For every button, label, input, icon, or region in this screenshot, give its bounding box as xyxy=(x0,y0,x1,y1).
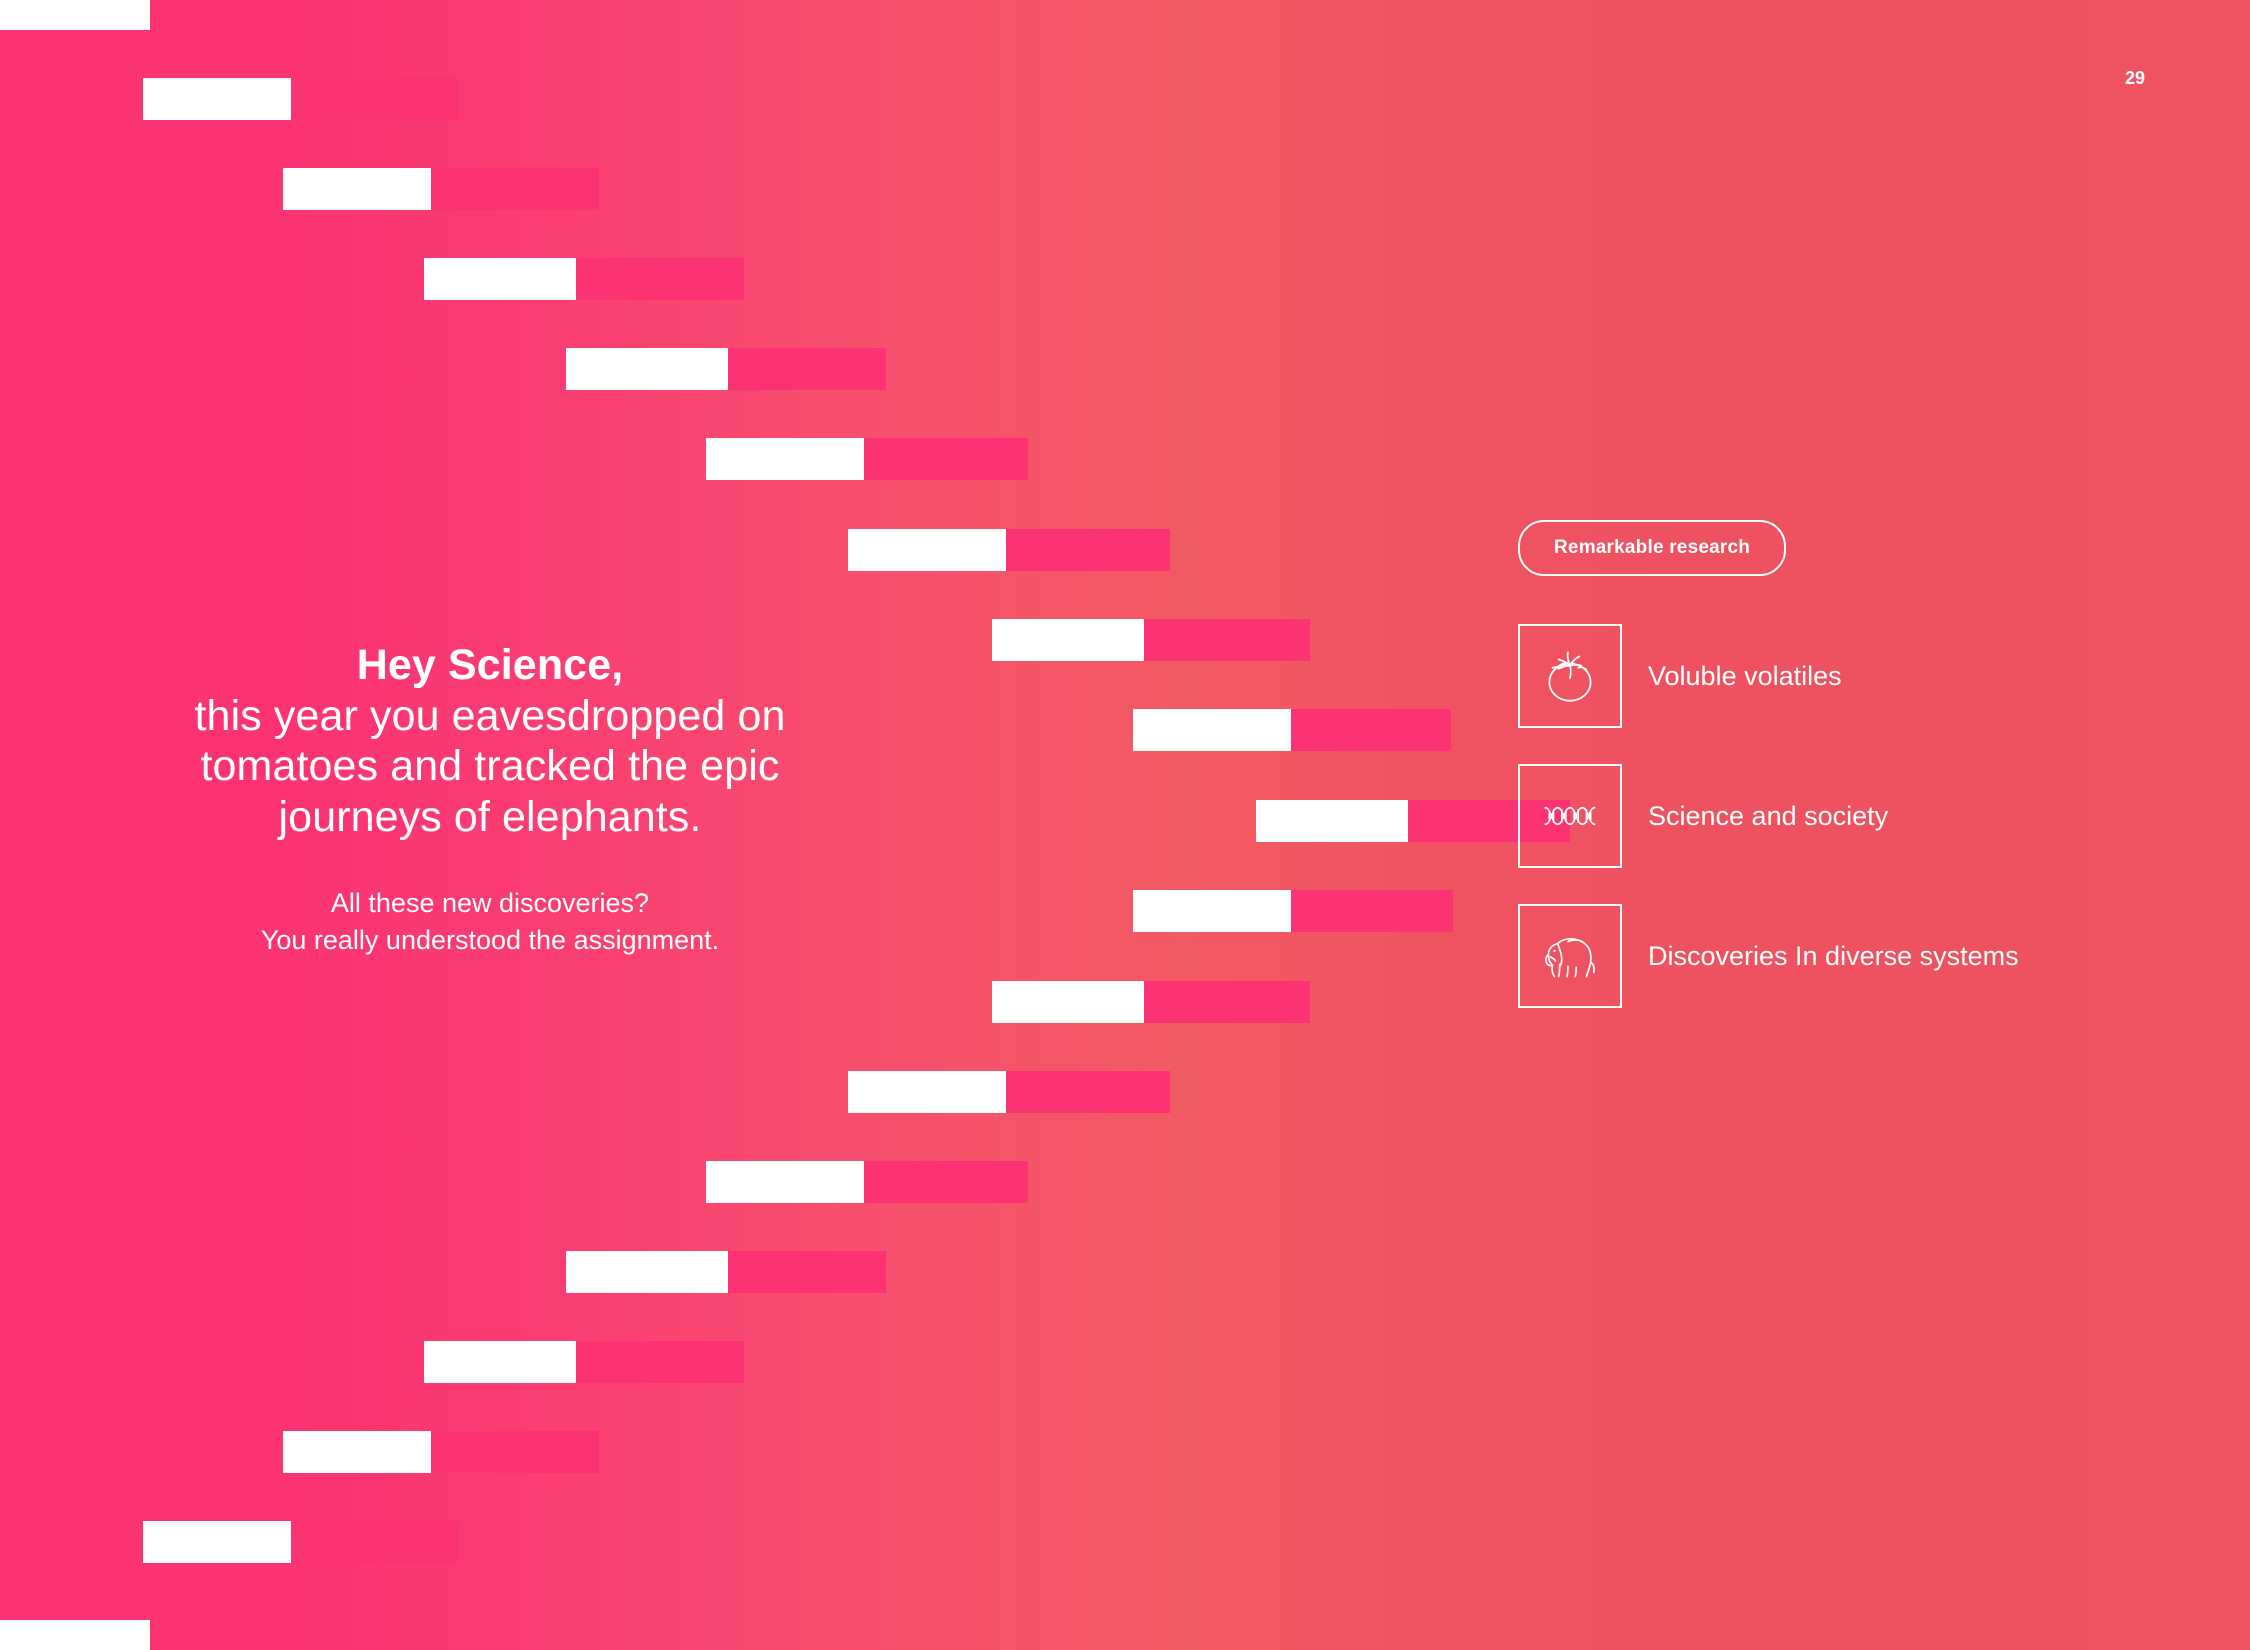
staircase-bar-row xyxy=(566,348,886,390)
subcopy: All these new discoveries? You really un… xyxy=(150,885,830,960)
staircase-bar-accent xyxy=(576,1341,744,1383)
staircase-bar-white xyxy=(992,981,1144,1023)
staircase-bar-white xyxy=(143,78,291,120)
staircase-bar-white xyxy=(848,529,1006,571)
staircase-bar-row xyxy=(143,78,459,120)
staircase-bar-white xyxy=(1133,709,1291,751)
staircase-bar-white xyxy=(706,438,864,480)
staircase-bar-white xyxy=(424,258,576,300)
staircase-bar-row xyxy=(992,981,1310,1023)
corner-notch-top-left xyxy=(0,0,150,30)
headline-lead: Hey Science, xyxy=(357,641,624,689)
staircase-bar-row xyxy=(848,529,1170,571)
topic-item-voluble-volatiles[interactable]: Voluble volatiles xyxy=(1518,624,2019,728)
staircase-bar-white xyxy=(706,1161,864,1203)
page-number: 29 xyxy=(2125,68,2145,89)
staircase-bar-accent xyxy=(1006,1071,1170,1113)
staircase-bar-accent xyxy=(1144,619,1310,661)
staircase-bar-accent xyxy=(1006,529,1170,571)
slide-canvas: 29 Hey Science, this year you eavesdropp… xyxy=(0,0,2250,1650)
topic-label: Voluble volatiles xyxy=(1648,661,1842,692)
staircase-bar-white xyxy=(566,1251,728,1293)
topic-label: Science and society xyxy=(1648,801,1888,832)
staircase-bar-white xyxy=(1133,890,1291,932)
headline: Hey Science, this year you eavesdropped … xyxy=(150,640,830,843)
corner-notch-bottom-left xyxy=(0,1620,150,1650)
staircase-bar-white xyxy=(143,1521,291,1563)
staircase-bar-row xyxy=(424,1341,744,1383)
staircase-bar-white xyxy=(992,619,1144,661)
staircase-bar-accent xyxy=(431,168,599,210)
staircase-bar-row xyxy=(1133,890,1453,932)
staircase-bar-white xyxy=(1256,800,1408,842)
dna-helix-icon xyxy=(1518,764,1622,868)
staircase-bar-accent xyxy=(1291,709,1451,751)
topic-item-discoveries-in-diverse-systems[interactable]: Discoveries In diverse systems xyxy=(1518,904,2019,1008)
topic-label: Discoveries In diverse systems xyxy=(1648,941,2019,972)
staircase-bar-row xyxy=(706,1161,1028,1203)
headline-block: Hey Science, this year you eavesdropped … xyxy=(150,640,830,959)
staircase-bar-accent xyxy=(291,1521,459,1563)
topic-item-science-and-society[interactable]: Science and society xyxy=(1518,764,2019,868)
staircase-bar-accent xyxy=(1144,981,1310,1023)
staircase-bar-row xyxy=(566,1251,886,1293)
headline-rest: this year you eavesdropped on tomatoes a… xyxy=(195,692,786,841)
subcopy-line-1: All these new discoveries? xyxy=(331,888,649,918)
staircase-bar-row xyxy=(1133,709,1451,751)
right-rail: Remarkable research xyxy=(1518,520,2019,1008)
staircase-bar-white xyxy=(283,168,431,210)
staircase-bar-accent xyxy=(1291,890,1453,932)
staircase-bar-row xyxy=(424,258,744,300)
topic-list: Voluble volatiles xyxy=(1518,624,2019,1008)
subcopy-line-2: You really understood the assignment. xyxy=(261,925,719,955)
elephant-icon xyxy=(1518,904,1622,1008)
staircase-bar-white xyxy=(283,1431,431,1473)
staircase-bar-row xyxy=(706,438,1028,480)
staircase-bar-row xyxy=(143,1521,459,1563)
staircase-bar-row xyxy=(283,168,599,210)
staircase-bar-accent xyxy=(864,1161,1028,1203)
remarkable-research-pill[interactable]: Remarkable research xyxy=(1518,520,1786,576)
staircase-bar-accent xyxy=(576,258,744,300)
staircase-bar-accent xyxy=(728,1251,886,1293)
staircase-bar-white xyxy=(848,1071,1006,1113)
staircase-bar-accent xyxy=(431,1431,599,1473)
staircase-bar-row xyxy=(992,619,1310,661)
staircase-bar-row xyxy=(283,1431,599,1473)
staircase-bar-white xyxy=(566,348,728,390)
tomato-icon xyxy=(1518,624,1622,728)
staircase-bar-accent xyxy=(728,348,886,390)
staircase-bar-accent xyxy=(864,438,1028,480)
staircase-bar-row xyxy=(848,1071,1170,1113)
staircase-bar-white xyxy=(424,1341,576,1383)
staircase-bar-accent xyxy=(291,78,459,120)
